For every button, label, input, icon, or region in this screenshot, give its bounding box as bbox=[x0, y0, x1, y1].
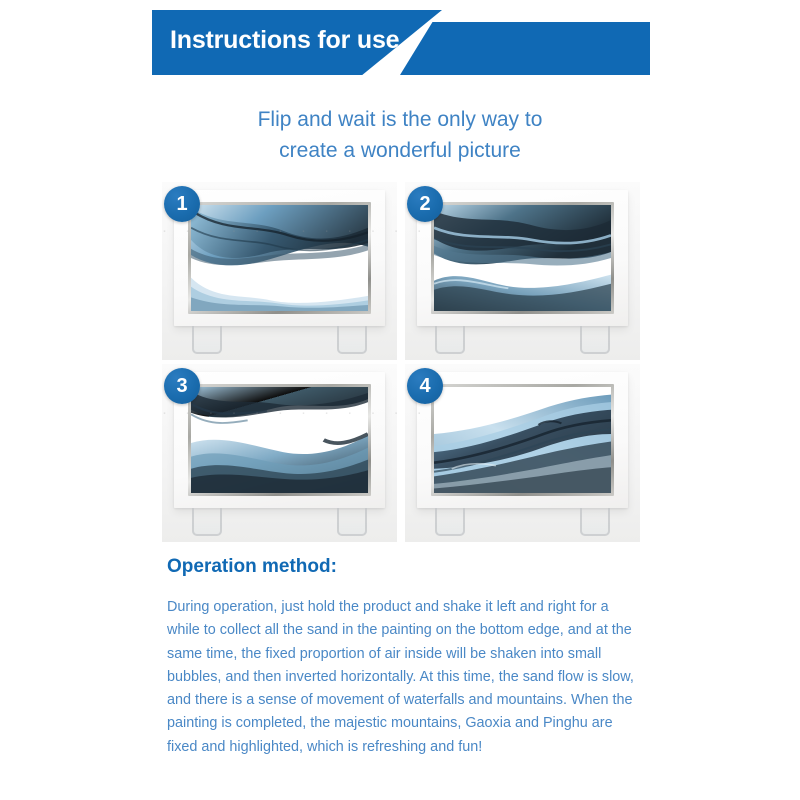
operation-method-heading: Operation method: bbox=[167, 556, 337, 578]
stand-foot-right bbox=[580, 508, 610, 536]
step-badge-1: 1 bbox=[164, 186, 200, 222]
picture-frame bbox=[174, 190, 385, 326]
step-badge-2: 2 bbox=[407, 186, 443, 222]
picture-frame bbox=[174, 372, 385, 508]
subtitle-line-2: create a wonderful picture bbox=[0, 135, 800, 166]
metal-bezel bbox=[431, 384, 614, 496]
sand-art-illustration-3 bbox=[191, 387, 368, 493]
stand-foot-right bbox=[337, 326, 367, 354]
step-item-2: 2 bbox=[405, 182, 640, 360]
stand-foot-left bbox=[435, 326, 465, 354]
subtitle: Flip and wait is the only way to create … bbox=[0, 104, 800, 166]
sand-art-illustration-2 bbox=[434, 205, 611, 311]
sand-art-illustration-1 bbox=[191, 205, 368, 311]
step-image-grid: 1 bbox=[162, 182, 642, 547]
instructions-page: Instructions for use Flip and wait is th… bbox=[0, 0, 800, 800]
metal-bezel bbox=[188, 384, 371, 496]
sand-art-glass bbox=[191, 387, 368, 493]
sand-art-glass bbox=[191, 205, 368, 311]
stand-foot-left bbox=[192, 508, 222, 536]
step-item-4: 4 bbox=[405, 364, 640, 542]
step-badge-4: 4 bbox=[407, 368, 443, 404]
step-item-3: 3 bbox=[162, 364, 397, 542]
metal-bezel bbox=[188, 202, 371, 314]
stand-foot-left bbox=[192, 326, 222, 354]
sand-art-glass bbox=[434, 387, 611, 493]
step-item-1: 1 bbox=[162, 182, 397, 360]
sand-art-illustration-4 bbox=[434, 387, 611, 493]
sand-art-glass bbox=[434, 205, 611, 311]
banner-right-panel bbox=[400, 22, 650, 75]
stand-foot-left bbox=[435, 508, 465, 536]
picture-frame bbox=[417, 190, 628, 326]
page-title: Instructions for use bbox=[170, 26, 399, 55]
subtitle-line-1: Flip and wait is the only way to bbox=[0, 104, 800, 135]
operation-method-body: During operation, just hold the product … bbox=[167, 596, 639, 759]
stand-foot-right bbox=[337, 508, 367, 536]
step-badge-3: 3 bbox=[164, 368, 200, 404]
picture-frame bbox=[417, 372, 628, 508]
header-banner: Instructions for use bbox=[0, 0, 800, 92]
operation-method-paragraph: During operation, just hold the product … bbox=[167, 596, 639, 759]
stand-foot-right bbox=[580, 326, 610, 354]
metal-bezel bbox=[431, 202, 614, 314]
